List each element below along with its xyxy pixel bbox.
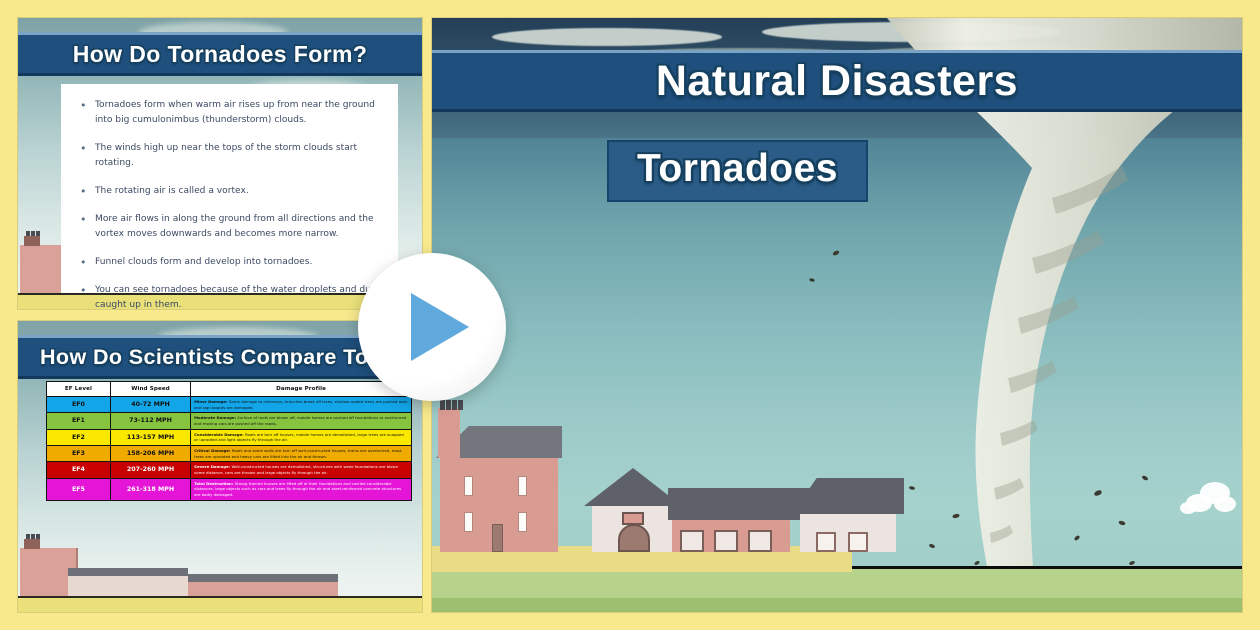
bullet-list: Tornadoes form when warm air rises up fr…: [75, 98, 380, 309]
bullet-list-card: Tornadoes form when warm air rises up fr…: [61, 84, 398, 293]
title-slide-panel[interactable]: Natural Disasters Tornadoes: [432, 18, 1242, 612]
cell-wind-speed: 40-72 MPH: [110, 397, 190, 413]
cell-ef-level: EF4: [47, 462, 111, 478]
column-header-ef-level: EF Level: [47, 382, 111, 397]
cell-damage-profile: Moderate Damage: Surface of roofs are bl…: [191, 413, 412, 429]
chimney: [438, 408, 460, 458]
list-item: You can see tornadoes because of the wat…: [75, 283, 380, 309]
cell-wind-speed: 158-206 MPH: [110, 445, 190, 461]
cell-wind-speed: 113-157 MPH: [110, 429, 190, 445]
ef-scale-table: EF Level Wind Speed Damage Profile EF0 4…: [46, 381, 412, 501]
cell-damage-profile: Critical Damage: Roofs and some walls ar…: [191, 445, 412, 461]
grass-field: [432, 566, 1242, 612]
main-title-band: Natural Disasters: [432, 50, 1242, 112]
damage-title: Severe Damage:: [194, 464, 230, 469]
damage-title: Moderate Damage:: [194, 415, 236, 420]
slide-how-do-tornadoes-form[interactable]: How Do Tornadoes Form? Tornadoes form wh…: [18, 18, 422, 309]
smoke-puff-icon: [1180, 476, 1240, 516]
page-title: Natural Disasters: [656, 57, 1018, 106]
column-header-wind-speed: Wind Speed: [110, 382, 190, 397]
cell-damage-profile: Considerable Damage: Roofs are torn off …: [191, 429, 412, 445]
table-row: EF4 207-260 MPH Severe Damage: Well-cons…: [47, 462, 412, 478]
cell-damage-profile: Severe Damage: Well-constructed houses a…: [191, 462, 412, 478]
window: [464, 512, 473, 532]
slide-title-bar: How Do Tornadoes Form?: [18, 32, 422, 76]
cottage-door: [816, 532, 836, 552]
front-door: [492, 524, 503, 552]
cell-wind-speed: 207-260 MPH: [110, 462, 190, 478]
list-item: More air flows in along the ground from …: [75, 212, 380, 242]
outbuilding-row: [672, 518, 790, 552]
slide-title-text: How Do Tornadoes Form?: [73, 41, 368, 68]
ef-scale-table-wrapper: EF Level Wind Speed Damage Profile EF0 4…: [46, 381, 412, 608]
cell-ef-level: EF0: [47, 397, 111, 413]
outbuilding-roof: [668, 488, 818, 520]
barn-building: [592, 504, 674, 552]
cell-wind-speed: 73-112 MPH: [110, 413, 190, 429]
table-row: EF1 73-112 MPH Moderate Damage: Surface …: [47, 413, 412, 429]
window: [518, 476, 527, 496]
cell-ef-level: EF3: [47, 445, 111, 461]
cottage-door: [848, 532, 868, 552]
list-item: Funnel clouds form and develop into torn…: [75, 255, 380, 270]
window: [464, 476, 473, 496]
cell-ef-level: EF5: [47, 478, 111, 500]
play-button[interactable]: [358, 253, 506, 401]
table-row: EF5 261-318 MPH Total Destruction: Stron…: [47, 478, 412, 500]
damage-title: Considerable Damage:: [194, 432, 244, 437]
damage-title: Total Destruction:: [194, 481, 233, 486]
slide-how-do-scientists-compare-tornadoes[interactable]: How Do Scientists Compare Tornadoes? EF …: [18, 321, 422, 612]
cell-wind-speed: 261-318 MPH: [110, 478, 190, 500]
table-row: EF2 113-157 MPH Considerable Damage: Roo…: [47, 429, 412, 445]
damage-title: Minor Damage:: [194, 399, 227, 404]
damage-title: Critical Damage:: [194, 448, 230, 453]
page-subtitle: Tornadoes: [637, 147, 838, 190]
list-item: Tornadoes form when warm air rises up fr…: [75, 98, 380, 128]
outbuilding-door: [714, 530, 738, 552]
list-item: The winds high up near the tops of the s…: [75, 141, 380, 171]
cell-ef-level: EF2: [47, 429, 111, 445]
cell-damage-profile: Total Destruction: Strong framed houses …: [191, 478, 412, 500]
table-row: EF3 158-206 MPH Critical Damage: Roofs a…: [47, 445, 412, 461]
farmhouse-building: [440, 456, 558, 552]
table-header-row: EF Level Wind Speed Damage Profile: [47, 382, 412, 397]
cottage-building: [800, 512, 896, 552]
barn-arch-door: [618, 524, 650, 552]
outbuilding-door: [680, 530, 704, 552]
window: [518, 512, 527, 532]
cell-damage-profile: Minor Damage: Some damage to chimneys, b…: [191, 397, 412, 413]
table-row: EF0 40-72 MPH Minor Damage: Some damage …: [47, 397, 412, 413]
chimney-pots-icon: [440, 400, 445, 410]
column-header-damage-profile: Damage Profile: [191, 382, 412, 397]
cell-ef-level: EF1: [47, 413, 111, 429]
list-item: The rotating air is called a vortex.: [75, 184, 380, 199]
outbuilding-door: [748, 530, 772, 552]
subtitle-band: Tornadoes: [607, 140, 868, 202]
play-triangle-icon: [411, 293, 469, 361]
